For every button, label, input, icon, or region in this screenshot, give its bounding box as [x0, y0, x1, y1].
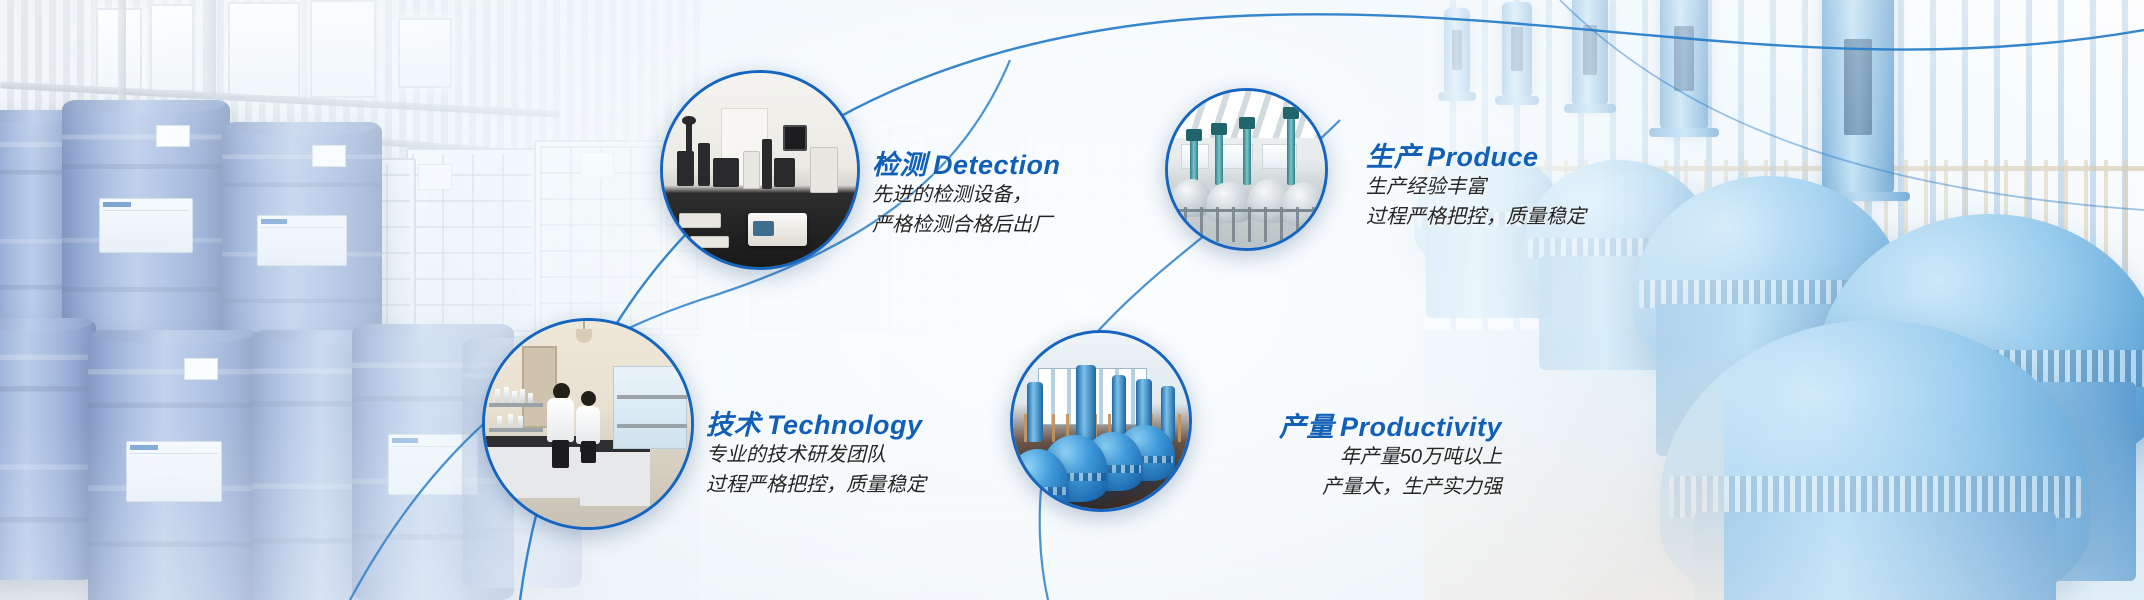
- lab-technicians-photo: [485, 321, 691, 527]
- wall-column: [208, 0, 216, 96]
- drum-label: [99, 198, 193, 252]
- technology-text-block: 技术Technology 专业的技术研发团队 过程严格把控，质量稳定: [706, 410, 926, 500]
- detection-line-2: 严格检测合格后出厂: [872, 211, 1061, 241]
- chemical-drum: [0, 318, 96, 580]
- tote-label: [418, 164, 452, 190]
- agitator-motor: [1572, 0, 1608, 106]
- drum-tag: [184, 358, 218, 380]
- drum-lid: [0, 318, 92, 332]
- productivity-text-block: 产量Productivity 年产量50万吨以上 产量大，生产实力强: [1150, 412, 1502, 502]
- detection-text-block: 检测Detection 先进的检测设备， 严格检测合格后出厂: [872, 150, 1061, 240]
- drum-tag: [312, 145, 346, 167]
- technology-photo-circle[interactable]: [482, 318, 694, 530]
- stainless-reactor-hall-photo: [1168, 91, 1325, 248]
- drum-lid: [67, 100, 225, 114]
- ibc-tote: [406, 148, 538, 338]
- drum-tag: [156, 125, 190, 147]
- technology-line-2: 过程严格把控，质量稳定: [706, 471, 926, 501]
- productivity-line-1: 年产量50万吨以上: [1150, 443, 1502, 473]
- produce-text-block: 生产Produce 生产经验丰富 过程严格把控，质量稳定: [1366, 142, 1586, 232]
- chemical-drum: [88, 330, 260, 600]
- detection-title: 检测Detection: [872, 150, 1061, 181]
- agitator-motor: [1502, 2, 1532, 98]
- ibc-tote: [534, 140, 670, 336]
- warehouse-window: [398, 18, 452, 88]
- productivity-line-2: 产量大，生产实力强: [1150, 473, 1502, 503]
- chemical-drum: [222, 122, 382, 354]
- agitator-motor: [1822, 0, 1894, 194]
- produce-line-2: 过程严格把控，质量稳定: [1366, 203, 1586, 233]
- warehouse-window: [150, 4, 194, 92]
- drum-label: [257, 215, 347, 266]
- background-photo-layer: [0, 0, 2144, 600]
- technology-title: 技术Technology: [706, 410, 926, 441]
- agitator-motor: [1660, 0, 1708, 130]
- warehouse-window: [310, 0, 376, 98]
- produce-title: 生产Produce: [1366, 142, 1586, 173]
- drum-label: [126, 441, 222, 502]
- produce-photo-circle[interactable]: [1165, 88, 1328, 251]
- drum-lid: [93, 330, 255, 344]
- tote-label: [580, 152, 614, 178]
- warehouse-window: [228, 2, 300, 98]
- detection-photo-circle[interactable]: [660, 70, 860, 270]
- right-reactor-scene: [1424, 0, 2144, 600]
- drum-lid: [227, 122, 377, 136]
- detection-line-1: 先进的检测设备，: [872, 181, 1061, 211]
- agitator-motor: [1444, 8, 1470, 94]
- capability-banner: 检测Detection 先进的检测设备， 严格检测合格后出厂: [0, 0, 2144, 600]
- technology-line-1: 专业的技术研发团队: [706, 441, 926, 471]
- productivity-title: 产量Productivity: [1150, 412, 1502, 443]
- wall-column: [118, 0, 126, 108]
- laboratory-instrument-bench-photo: [663, 73, 857, 267]
- chemical-drum: [62, 100, 230, 346]
- produce-line-1: 生产经验丰富: [1366, 173, 1586, 203]
